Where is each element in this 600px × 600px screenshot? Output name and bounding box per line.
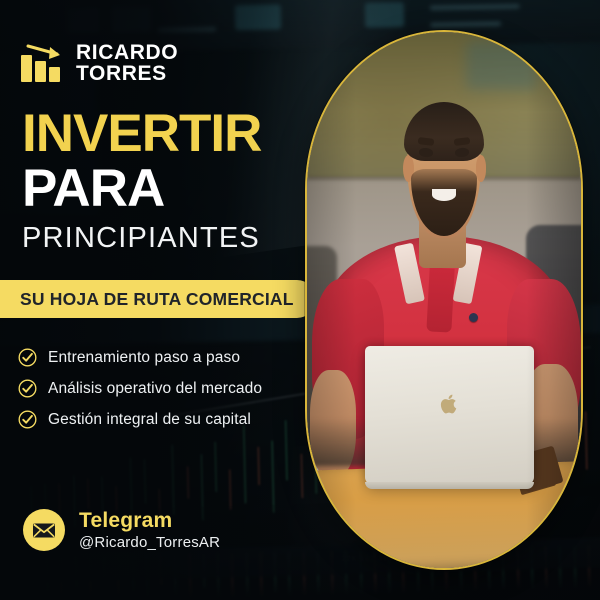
brand-name-line2: TORRES (76, 63, 178, 84)
list-item: Gestión integral de su capital (18, 404, 262, 435)
telegram-text-group: Telegram @Ricardo_TorresAR (79, 509, 220, 550)
portrait-photo-frame (305, 30, 583, 570)
list-item: Entrenamiento paso a paso (18, 342, 262, 373)
brand-name-line1: RICARDO (76, 42, 178, 63)
check-circle-icon (18, 348, 37, 367)
headline-line-1: INVERTIR (22, 108, 261, 160)
telegram-platform-label: Telegram (79, 509, 220, 533)
roadmap-badge-label: SU HOJA DE RUTA COMERCIAL (20, 289, 294, 310)
envelope-icon (22, 508, 66, 552)
list-item-label: Gestión integral de su capital (48, 411, 251, 429)
feature-list: Entrenamiento paso a paso Análisis opera… (18, 342, 262, 435)
brand-logo: RICARDO TORRES (20, 42, 178, 85)
headline-block: INVERTIR PARA PRINCIPIANTES (22, 108, 261, 253)
list-item-label: Análisis operativo del mercado (48, 380, 262, 398)
roadmap-badge: SU HOJA DE RUTA COMERCIAL (0, 280, 316, 318)
promo-poster: 16:00 17:00 12:00 22K.182.31 RICARDO (0, 0, 600, 600)
list-item-label: Entrenamiento paso a paso (48, 349, 240, 367)
list-item: Análisis operativo del mercado (18, 373, 262, 404)
headline-line-2: PARA (22, 162, 261, 216)
check-circle-icon (18, 379, 37, 398)
portrait-photo (307, 32, 581, 568)
telegram-contact[interactable]: Telegram @Ricardo_TorresAR (22, 508, 220, 552)
photo-edge-shading (307, 32, 581, 568)
headline-line-3: PRINCIPIANTES (22, 223, 261, 253)
check-circle-icon (18, 410, 37, 429)
telegram-handle: @Ricardo_TorresAR (79, 534, 220, 551)
poster-content: RICARDO TORRES INVERTIR PARA PRINCIPIANT… (0, 0, 600, 600)
brand-name: RICARDO TORRES (76, 42, 178, 85)
bar-chart-arrow-icon (20, 43, 66, 83)
